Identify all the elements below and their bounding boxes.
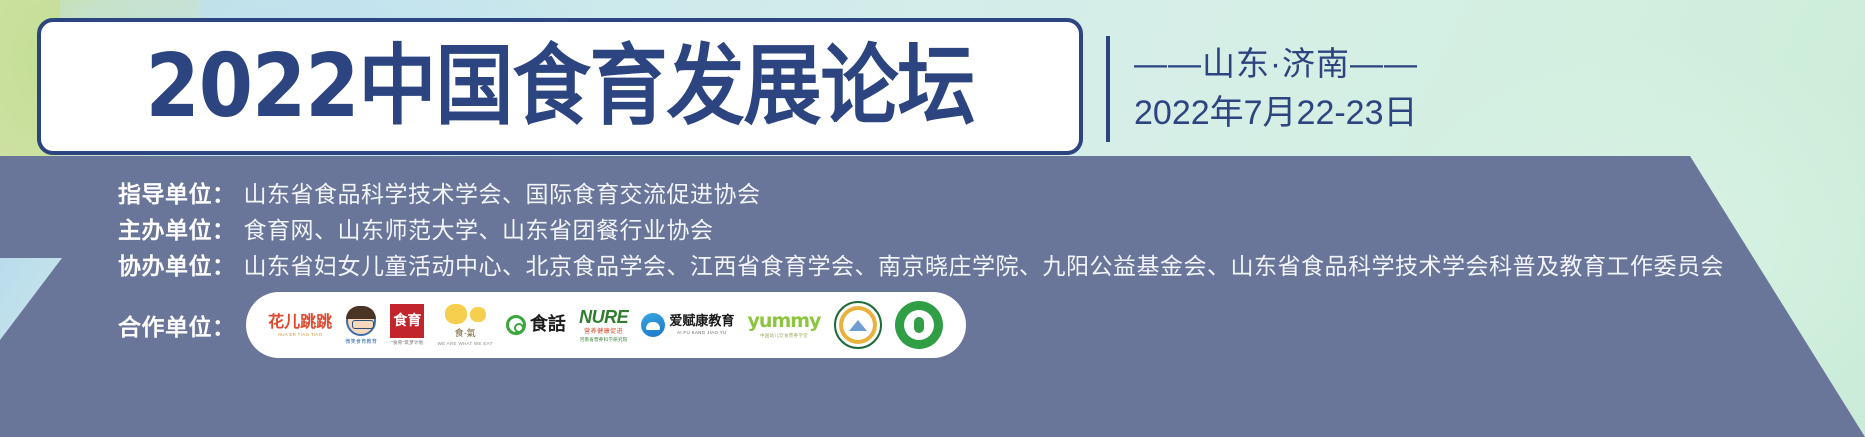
logo-caption: 中国幼儿饮食营养学堂 xyxy=(760,333,808,339)
shi-hua-logo: 食話 xyxy=(506,296,566,354)
organization-list: 指导单位： 山东省食品科学技术学会、国际食育交流促进协会 主办单位： 食育网、山… xyxy=(118,175,1818,283)
logo-caption: 河南省营养科学研究院 xyxy=(580,337,628,343)
logo-wordmark: NURE xyxy=(579,308,628,326)
logo-wordmark: yummy xyxy=(748,312,821,331)
org-label: 主办单位： xyxy=(118,211,236,245)
shi-qi-logo: 食·氣 WE ARE WHAT WE EAT xyxy=(438,296,493,354)
org-value: 山东省妇女儿童活动中心、北京食品学会、江西省食育学会、南京晓庄学院、九阳公益基金… xyxy=(244,247,1725,281)
logo-wordmark: 食話 xyxy=(530,316,566,334)
event-date: 2022年7月22-23日 xyxy=(1134,91,1436,135)
shi-yu-seal-logo: 食育 "食育"筑梦计划 xyxy=(390,296,424,354)
logo-caption: HUA ER TIAO TIAO xyxy=(278,332,323,337)
logo-caption: AI FU KANG JIAO YU xyxy=(677,330,727,335)
nure-logo: NURE 营养健康促进 河南省营养科学研究院 xyxy=(579,296,628,354)
org-label: 指导单位： xyxy=(118,175,236,209)
mountain-seal-logo xyxy=(834,296,882,354)
org-label: 协办单位： xyxy=(118,247,236,281)
partner-row: 合作单位： 花儿跳跳 HUA ER TIAO TIAO 微笑食育教育 食育 "食… xyxy=(118,292,966,358)
dough-characters-icon xyxy=(445,304,486,324)
org-value: 山东省食品科学技术学会、国际食育交流促进协会 xyxy=(244,175,761,209)
spiral-icon xyxy=(506,315,526,335)
forum-banner: 2022中国食育发展论坛 ——山东·济南—— 2022年7月22-23日 指导单… xyxy=(0,0,1865,437)
logo-tagline: 营养健康促进 xyxy=(584,326,623,335)
title-box: 2022中国食育发展论坛 xyxy=(37,18,1083,155)
green-person-seal-logo xyxy=(895,296,943,354)
org-value: 食育网、山东师范大学、山东省团餐行业协会 xyxy=(244,211,714,245)
logo-wordmark: 花儿跳跳 xyxy=(268,314,332,330)
hua-er-tiao-tiao-logo: 花儿跳跳 HUA ER TIAO TIAO xyxy=(268,296,332,354)
logo-caption: "食育"筑梦计划 xyxy=(391,340,424,346)
logo-caption: 微笑食育教育 xyxy=(345,338,377,345)
list-item: 协办单位： 山东省妇女儿童活动中心、北京食品学会、江西省食育学会、南京晓庄学院、… xyxy=(118,247,1818,283)
logo-wordmark: 食育 xyxy=(390,304,424,338)
page-title: 2022中国食育发展论坛 xyxy=(145,43,974,130)
person-seal-icon xyxy=(895,301,943,349)
logo-caption: WE ARE WHAT WE EAT xyxy=(438,341,493,346)
avatar xyxy=(346,306,376,336)
list-item: 指导单位： 山东省食品科学技术学会、国际食育交流促进协会 xyxy=(118,175,1818,211)
event-location: ——山东·济南—— xyxy=(1134,43,1436,84)
list-item: 主办单位： 食育网、山东师范大学、山东省团餐行业协会 xyxy=(118,211,1818,247)
bowl-circle-icon xyxy=(641,313,665,337)
logo-wordmark: 爱赋康教育 xyxy=(669,315,734,328)
mountain-seal-icon xyxy=(834,301,882,349)
partner-logo-pill: 花儿跳跳 HUA ER TIAO TIAO 微笑食育教育 食育 "食育"筑梦计划… xyxy=(246,292,966,358)
yummy-logo: yummy 中国幼儿饮食营养学堂 xyxy=(748,296,821,354)
event-meta-block: ——山东·济南—— 2022年7月22-23日 xyxy=(1106,36,1436,142)
ai-fu-kang-jiao-yu-logo: 爱赋康教育 AI FU KANG JIAO YU xyxy=(641,296,734,354)
partner-label: 合作单位： xyxy=(118,308,246,342)
logo-wordmark: 食·氣 xyxy=(455,326,476,339)
kid-avatar-logo: 微笑食育教育 xyxy=(345,296,377,354)
